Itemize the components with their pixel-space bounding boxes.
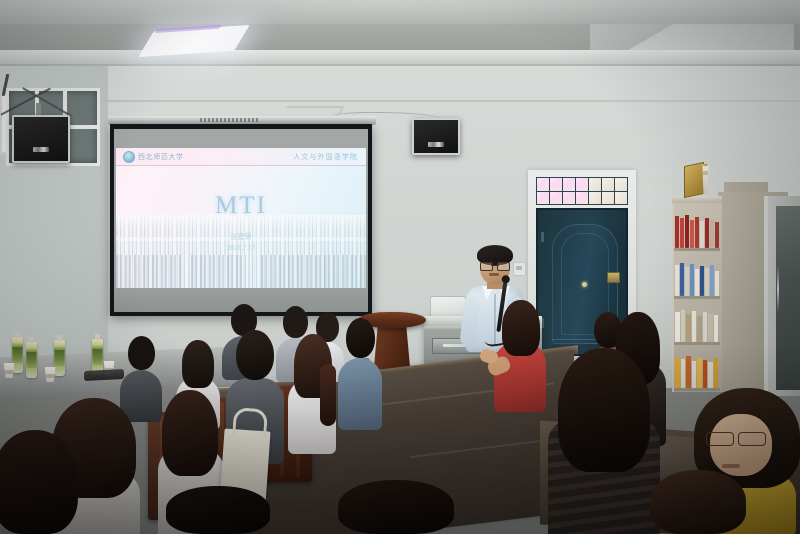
bookshelf-top (672, 196, 722, 203)
housing-brand-mark (200, 118, 258, 122)
green-tea-bottle (54, 340, 65, 376)
slide-university-name: 西北师范大学 (138, 152, 184, 162)
wall-speaker-left-icon (12, 115, 70, 163)
slide-department-name: 人文与外国语学院 (293, 152, 358, 162)
slide-title: MTI (116, 192, 366, 220)
audience-member (166, 486, 270, 534)
dark-object-on-table (84, 369, 124, 381)
audience-member (338, 318, 382, 428)
lecture-hall-photo: 西北师范大学 人文与外国语学院 MTI 张建荣 2018.7.17 (0, 0, 800, 534)
projector-screen: 西北师范大学 人文与外国语学院 MTI 张建荣 2018.7.17 (110, 124, 372, 316)
side-window (764, 196, 800, 396)
green-tea-bottle (26, 342, 37, 378)
audience-member (494, 300, 546, 408)
audience-member (548, 348, 660, 534)
window-glass (776, 206, 800, 390)
projected-slide: 西北师范大学 人文与外国语学院 MTI 张建荣 2018.7.17 (116, 148, 366, 288)
ceiling-soffit (0, 0, 800, 24)
bookshelf-books-row-3 (675, 308, 719, 342)
trophy-icon (684, 154, 710, 196)
audience-member (288, 334, 336, 452)
ceiling-beam (0, 50, 800, 64)
wall-conduit (0, 100, 800, 102)
slide-subtitle-block: 张建荣 2018.7.17 (116, 232, 366, 253)
slide-university-logo: 西北师范大学 (123, 151, 184, 163)
slide-date: 2018.7.17 (116, 243, 366, 254)
audience-member (650, 470, 746, 534)
wall-speaker-right-icon (412, 118, 460, 155)
door-lock-plate (607, 272, 620, 283)
bookshelf-books-row-1 (675, 214, 719, 248)
university-seal-icon (123, 151, 135, 163)
glass-block-transom (536, 177, 628, 205)
audience-member (0, 430, 78, 534)
glasses-icon (480, 262, 510, 269)
audience-member (338, 480, 454, 534)
door-knob-icon[interactable] (582, 282, 587, 287)
bookshelf-books-row-4 (675, 354, 719, 388)
bookshelf-books-row-2 (675, 262, 719, 296)
slide-presenter-name: 张建荣 (116, 232, 366, 243)
window-glint (777, 266, 779, 312)
